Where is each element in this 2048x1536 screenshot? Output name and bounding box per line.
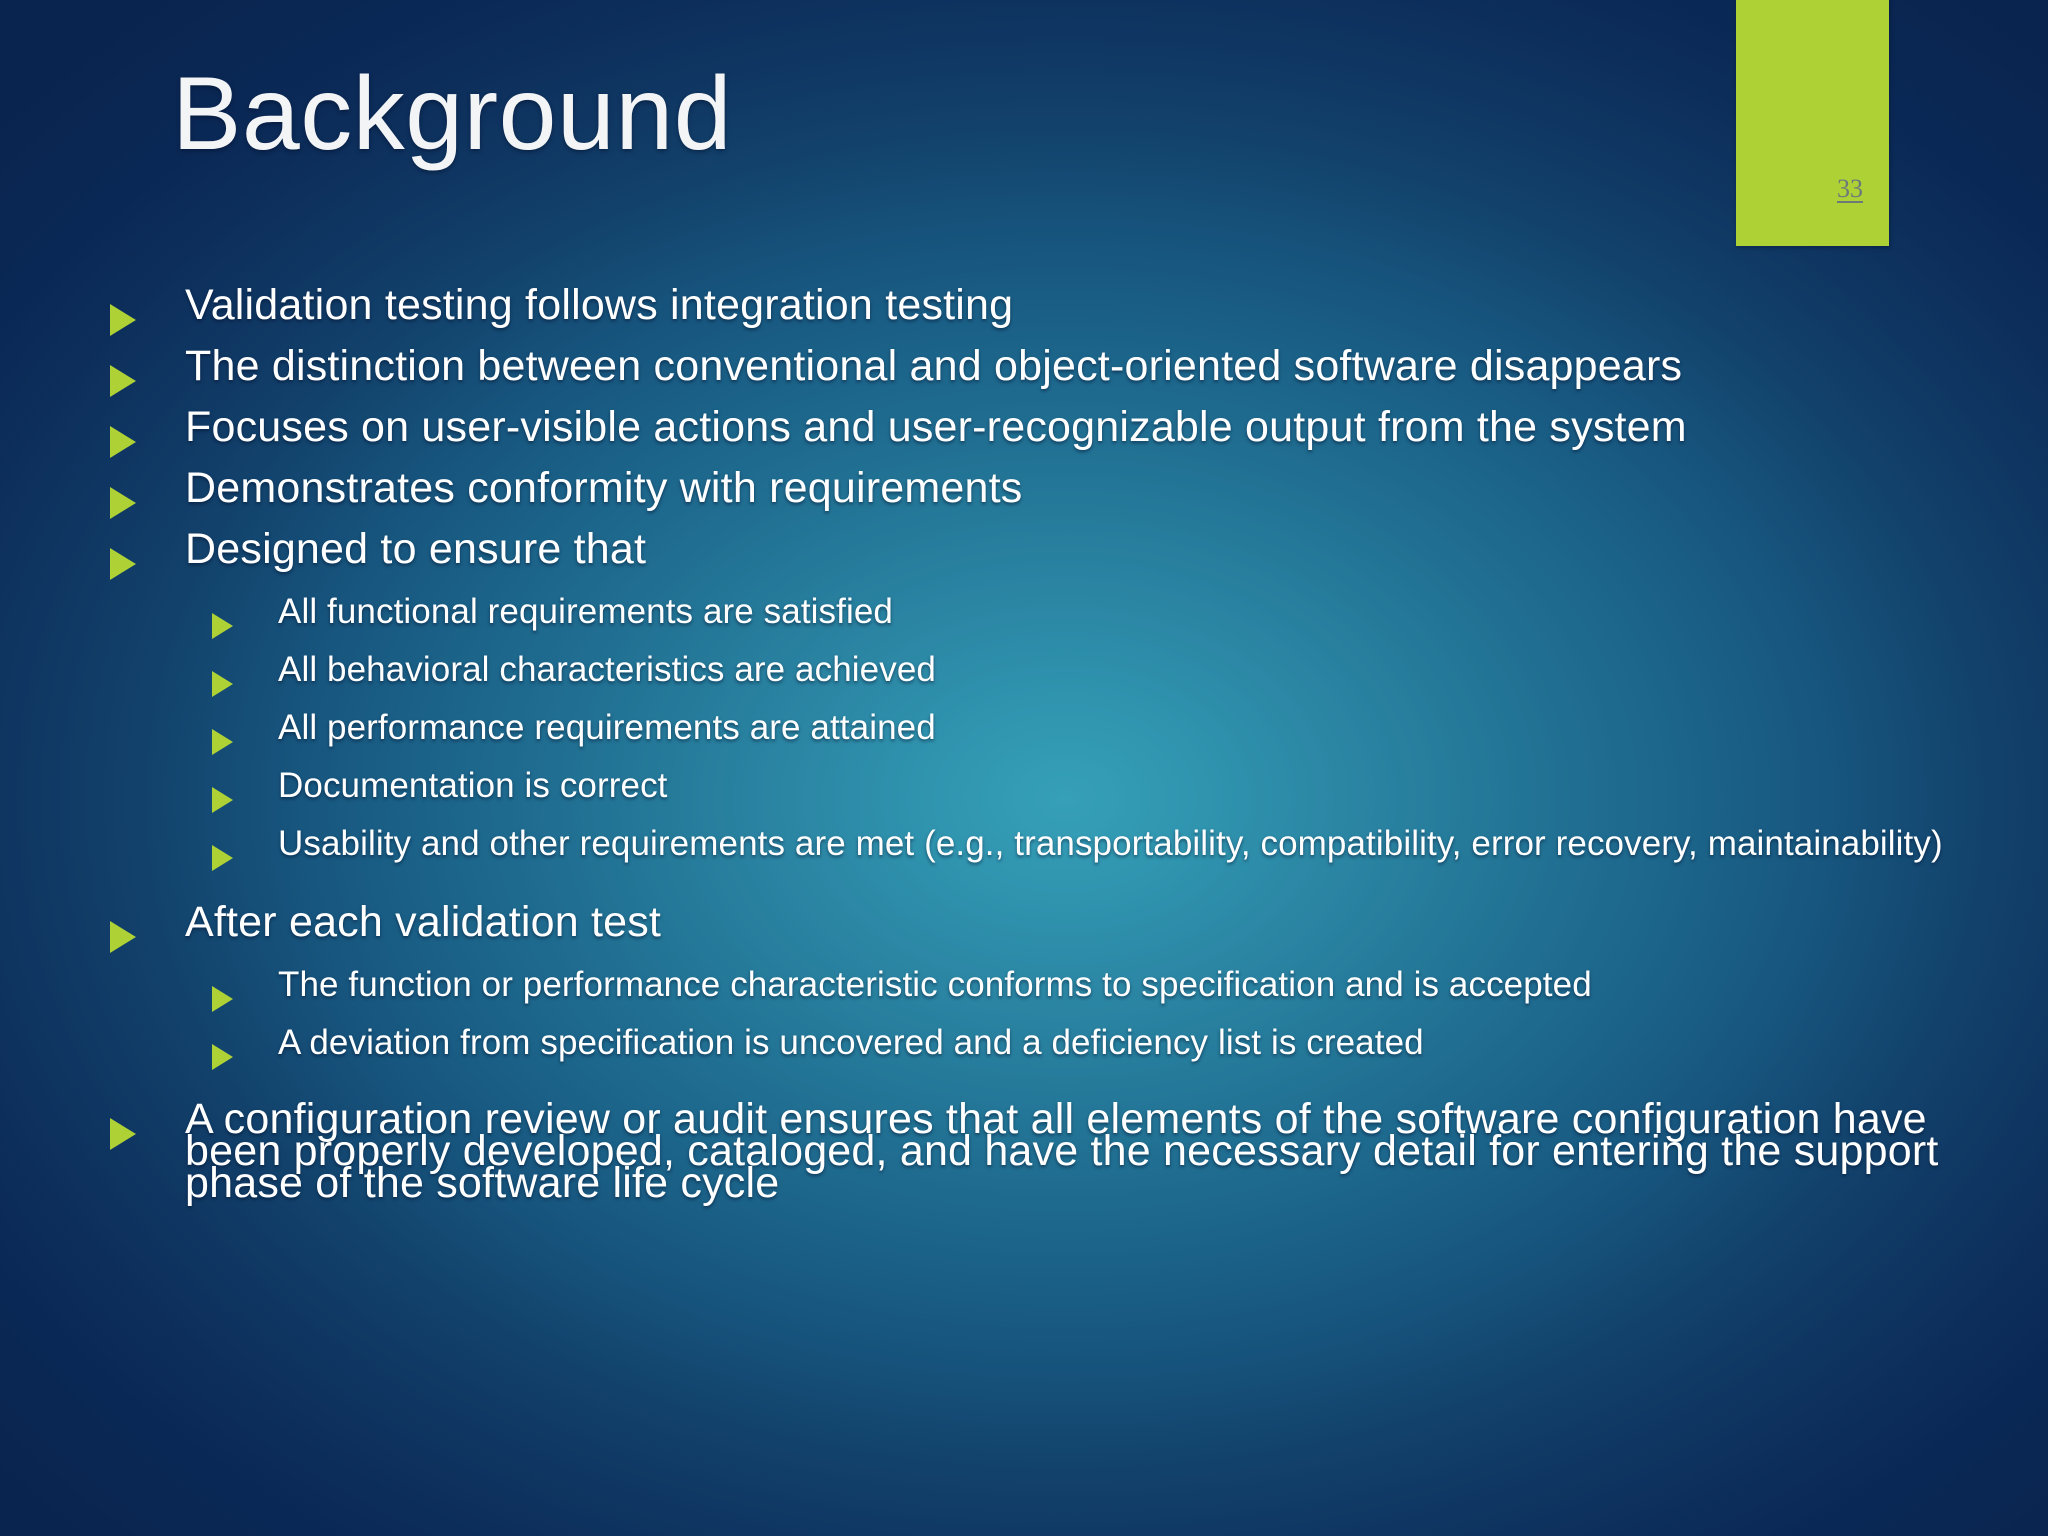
page-number-block: 33 xyxy=(1736,0,1889,246)
bullet-item: A configuration review or audit ensures … xyxy=(0,1104,2048,1199)
page-number: 33 xyxy=(1837,174,1863,204)
bullet-text: Designed to ensure that xyxy=(185,534,1988,566)
bullet-item: After each validation test xyxy=(0,907,2048,968)
bullet-subitem: Usability and other requirements are met… xyxy=(0,831,2048,889)
bullet-text: The function or performance characterist… xyxy=(278,972,1988,997)
bullet-text: Focuses on user-visible actions and user… xyxy=(185,412,1988,444)
bullet-text: All performance requirements are attaine… xyxy=(278,715,1988,740)
bullet-subitem: The function or performance characterist… xyxy=(0,972,2048,1030)
bullet-subitem: All performance requirements are attaine… xyxy=(0,715,2048,773)
bullet-text: Documentation is correct xyxy=(278,773,1988,798)
triangle-bullet-icon xyxy=(212,613,233,639)
bullet-text: After each validation test xyxy=(185,907,1988,939)
bullet-subitem: A deviation from specification is uncove… xyxy=(0,1030,2048,1088)
triangle-bullet-icon xyxy=(212,729,233,755)
triangle-bullet-icon xyxy=(110,426,136,458)
bullet-text: Usability and other requirements are met… xyxy=(278,831,1988,856)
triangle-bullet-icon xyxy=(110,921,136,953)
triangle-bullet-icon xyxy=(212,986,233,1012)
triangle-bullet-icon xyxy=(110,487,136,519)
bullet-text: All functional requirements are satisfie… xyxy=(278,599,1988,624)
bullet-text: A configuration review or audit ensures … xyxy=(185,1104,1988,1199)
triangle-bullet-icon xyxy=(212,1044,233,1070)
triangle-bullet-icon xyxy=(110,1118,136,1150)
triangle-bullet-icon xyxy=(212,671,233,697)
triangle-bullet-icon xyxy=(110,304,136,336)
bullet-text: Validation testing follows integration t… xyxy=(185,290,1988,322)
bullet-subitem: All functional requirements are satisfie… xyxy=(0,599,2048,657)
page-title: Background xyxy=(172,62,732,166)
slide-canvas: Background 33 Validation testing follows… xyxy=(0,0,2048,1536)
triangle-bullet-icon xyxy=(212,845,233,871)
bullet-text: A deviation from specification is uncove… xyxy=(278,1030,1988,1055)
bullet-subitem: Documentation is correct xyxy=(0,773,2048,831)
bullet-item: Designed to ensure that xyxy=(0,534,2048,595)
bullet-text: The distinction between conventional and… xyxy=(185,351,1988,383)
triangle-bullet-icon xyxy=(212,787,233,813)
triangle-bullet-icon xyxy=(110,365,136,397)
bullet-text: Demonstrates conformity with requirement… xyxy=(185,473,1988,505)
bullet-text: All behavioral characteristics are achie… xyxy=(278,657,1988,682)
bullet-subitem: All behavioral characteristics are achie… xyxy=(0,657,2048,715)
bullet-list: Validation testing follows integration t… xyxy=(0,290,2048,1199)
triangle-bullet-icon xyxy=(110,548,136,580)
